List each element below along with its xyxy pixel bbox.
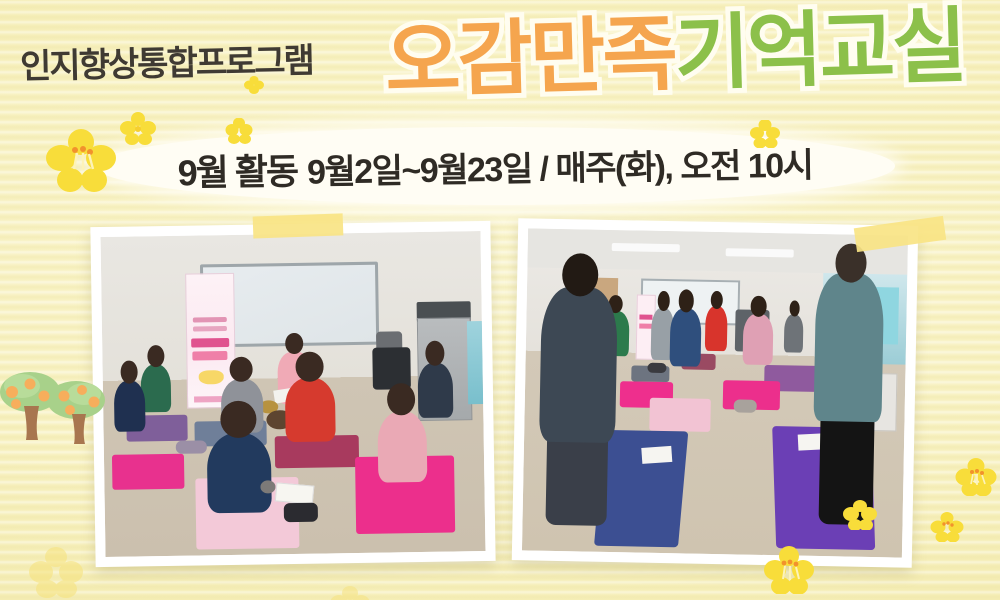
yoga-mat <box>650 398 711 431</box>
participant <box>704 306 728 352</box>
banner-title-2 <box>639 323 652 328</box>
activity-card <box>275 482 315 504</box>
program-subtitle: 인지향상통합프로그램 <box>20 33 314 88</box>
schedule-month-label: 9월 활동 <box>177 143 297 197</box>
flower-pale-bottom-center-icon <box>330 586 370 600</box>
title-part-green: 기억교실 <box>673 1 965 100</box>
flower-pale-bottom-left-icon <box>28 546 84 598</box>
activity-card <box>641 446 672 464</box>
window <box>467 321 483 404</box>
schedule-pill-content: 9월 활동 9월2일~9월23일 / 매주(화), 오전 10시 <box>94 121 895 210</box>
participant <box>206 433 272 514</box>
shoes <box>647 363 666 373</box>
participant-foreground-right <box>813 273 884 422</box>
schedule-pill: 9월 활동 9월2일~9월23일 / 매주(화), 오전 10시 <box>95 127 895 205</box>
photo-image-classroom-standing <box>522 228 908 557</box>
photo-card-right <box>512 218 918 568</box>
participant <box>670 308 701 367</box>
shoes <box>176 440 207 453</box>
ceiling-light <box>611 243 680 252</box>
shoes <box>283 502 317 522</box>
participant <box>377 411 427 482</box>
participant-foreground-left <box>539 287 618 443</box>
banner-title-1 <box>640 315 653 320</box>
page-title: 오감만족기억교실 <box>384 6 966 104</box>
flower-bottom-right-1-icon <box>955 458 997 496</box>
banner-title-1 <box>191 338 229 348</box>
title-part-orange: 오감만족 <box>384 9 676 108</box>
photo-card-left <box>90 221 495 567</box>
participant <box>418 363 453 418</box>
yoga-mat <box>112 453 185 489</box>
participant <box>285 377 335 442</box>
flower-bottom-right-2-icon <box>930 512 964 542</box>
photo-image-classroom-seated <box>101 231 486 557</box>
shoes <box>734 400 757 413</box>
participant <box>784 314 804 353</box>
banner-heart-graphic <box>199 370 224 385</box>
banner-line-2 <box>193 326 227 332</box>
banner-line-1 <box>193 317 227 323</box>
ceiling-light <box>725 248 794 257</box>
participant <box>114 380 145 432</box>
schedule-detail: 9월2일~9월23일 / 매주(화), 오전 10시 <box>307 137 813 193</box>
participant-foreground-right-legs <box>819 408 874 525</box>
banner-title-2 <box>193 351 228 361</box>
participant <box>742 313 773 365</box>
poster-canvas: 인지향상통합프로그램 오감만족기억교실 9월 활동 9월2일~9월23일 / 매… <box>0 0 1000 600</box>
washi-tape-left <box>253 213 344 238</box>
participant <box>141 364 172 412</box>
